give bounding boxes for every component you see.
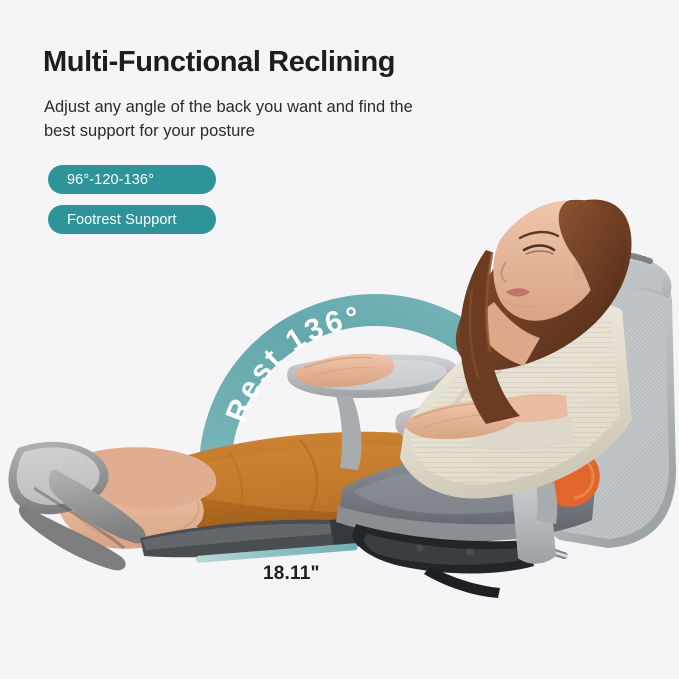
chair-backrest	[511, 250, 676, 556]
chair-headrest	[544, 254, 671, 334]
page-title: Multi-Functional Reclining	[43, 46, 395, 79]
rest-angle-text: Rest 136°	[220, 301, 364, 427]
seat-depth-measure-label: 18.11"	[263, 563, 320, 585]
slippers	[8, 442, 145, 570]
badge-footrest-support: Footrest Support	[48, 205, 216, 234]
footrest-platform	[140, 519, 384, 557]
person-head	[474, 201, 608, 366]
person-sweater	[400, 302, 632, 499]
person-hair-front	[460, 200, 627, 424]
chair-seat-and-mechanism	[336, 448, 600, 598]
person-feet	[55, 447, 216, 549]
armrest-left	[287, 354, 459, 470]
seat-depth-measure-line	[196, 543, 358, 563]
armrest-right	[395, 397, 587, 524]
page-subtitle: Adjust any angle of the back you want an…	[44, 96, 434, 144]
badge-recline-angles: 96°-120-136°	[48, 165, 216, 194]
product-feature-panel: Rest 136° 18.11" Multi-Functional Reclin…	[0, 0, 679, 679]
person-hair-back	[456, 199, 632, 370]
person-legs-pants	[150, 432, 556, 541]
person-hands	[295, 354, 568, 439]
